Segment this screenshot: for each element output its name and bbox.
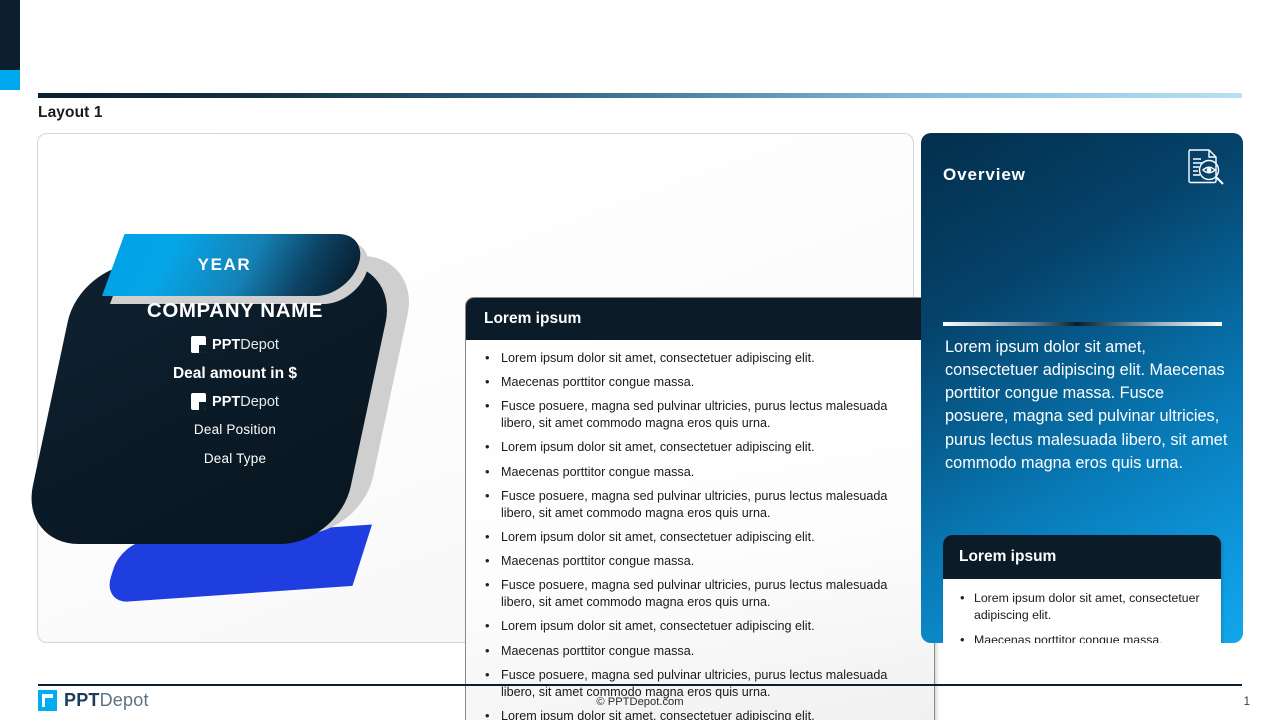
deal-position: Deal Position — [194, 422, 276, 437]
list-item: Maecenas porttitor congue massa. — [482, 464, 920, 481]
overview-header-underline — [943, 322, 1222, 326]
list-item: Maecenas porttitor congue massa. — [957, 632, 1208, 643]
deal-amount: Deal amount in $ — [173, 365, 297, 383]
list-item: Lorem ipsum dolor sit amet, consectetuer… — [482, 439, 920, 456]
middle-card-header: Lorem ipsum — [466, 298, 934, 340]
deal-type: Deal Type — [204, 451, 266, 466]
logo-bold-part: PPT — [212, 337, 240, 353]
list-item: Maecenas porttitor congue massa. — [482, 374, 920, 391]
corner-accent-cyan — [0, 70, 20, 90]
pptdepot-logo-text: PPTDepot — [212, 394, 279, 410]
document-mark-icon — [191, 393, 206, 410]
sub-card-bullet-list: Lorem ipsum dolor sit amet, consectetuer… — [957, 590, 1208, 643]
title-divider — [38, 93, 1242, 98]
logo-regular-part: Depot — [240, 337, 279, 353]
overview-header: Overview — [943, 165, 1026, 185]
page-title: Layout 1 — [38, 104, 103, 122]
list-item: Lorem ipsum dolor sit amet, consectetuer… — [482, 529, 920, 546]
logo-regular-part: Depot — [240, 394, 279, 410]
logo-bold-part: PPT — [212, 394, 240, 410]
list-item: Lorem ipsum dolor sit amet, consectetuer… — [482, 350, 920, 367]
middle-bullet-list: Lorem ipsum dolor sit amet, consectetuer… — [482, 350, 920, 720]
company-name: COMPANY NAME — [147, 299, 323, 323]
list-item: Maecenas porttitor congue massa. — [482, 553, 920, 570]
overview-paragraph: Lorem ipsum dolor sit amet, consectetuer… — [945, 336, 1230, 475]
sub-card-header: Lorem ipsum — [943, 535, 1221, 579]
copyright-text: © PPTDepot.com — [0, 696, 1280, 708]
list-item: Lorem ipsum dolor sit amet, consectetuer… — [957, 590, 1208, 623]
list-item: Maecenas porttitor congue massa. — [482, 643, 920, 660]
overview-sub-card: Lorem ipsum Lorem ipsum dolor sit amet, … — [943, 535, 1221, 643]
deal-summary-graphic: YEAR COMPANY NAME PPTDepot Deal amount i… — [50, 224, 450, 644]
sub-card-body: Lorem ipsum dolor sit amet, consectetuer… — [943, 579, 1221, 643]
overview-panel: Overview Lorem ipsum dolor sit amet, con… — [921, 133, 1243, 643]
pptdepot-logo-text: PPTDepot — [212, 337, 279, 353]
slide-canvas: Layout 1 YEAR COMPANY NAME PPTDepot Deal… — [0, 0, 1280, 720]
middle-card-body: Lorem ipsum dolor sit amet, consectetuer… — [466, 340, 934, 720]
list-item: Lorem ipsum dolor sit amet, consectetuer… — [482, 618, 920, 635]
left-content-card: YEAR COMPANY NAME PPTDepot Deal amount i… — [37, 133, 914, 643]
page-number: 1 — [1244, 696, 1250, 708]
list-item: Fusce posuere, magna sed pulvinar ultric… — [482, 577, 920, 610]
document-review-magnifier-icon — [1183, 147, 1227, 189]
pptdepot-logo-primary: PPTDepot — [191, 336, 279, 353]
deal-details: COMPANY NAME PPTDepot Deal amount in $ P… — [70, 272, 400, 542]
corner-accent-navy — [0, 0, 20, 70]
pptdepot-logo-secondary: PPTDepot — [191, 393, 279, 410]
footer: PPTDepot © PPTDepot.com 1 — [0, 686, 1280, 720]
middle-bullet-card: Lorem ipsum Lorem ipsum dolor sit amet, … — [465, 297, 935, 720]
list-item: Fusce posuere, magna sed pulvinar ultric… — [482, 488, 920, 521]
document-mark-icon — [191, 336, 206, 353]
list-item: Fusce posuere, magna sed pulvinar ultric… — [482, 398, 920, 431]
